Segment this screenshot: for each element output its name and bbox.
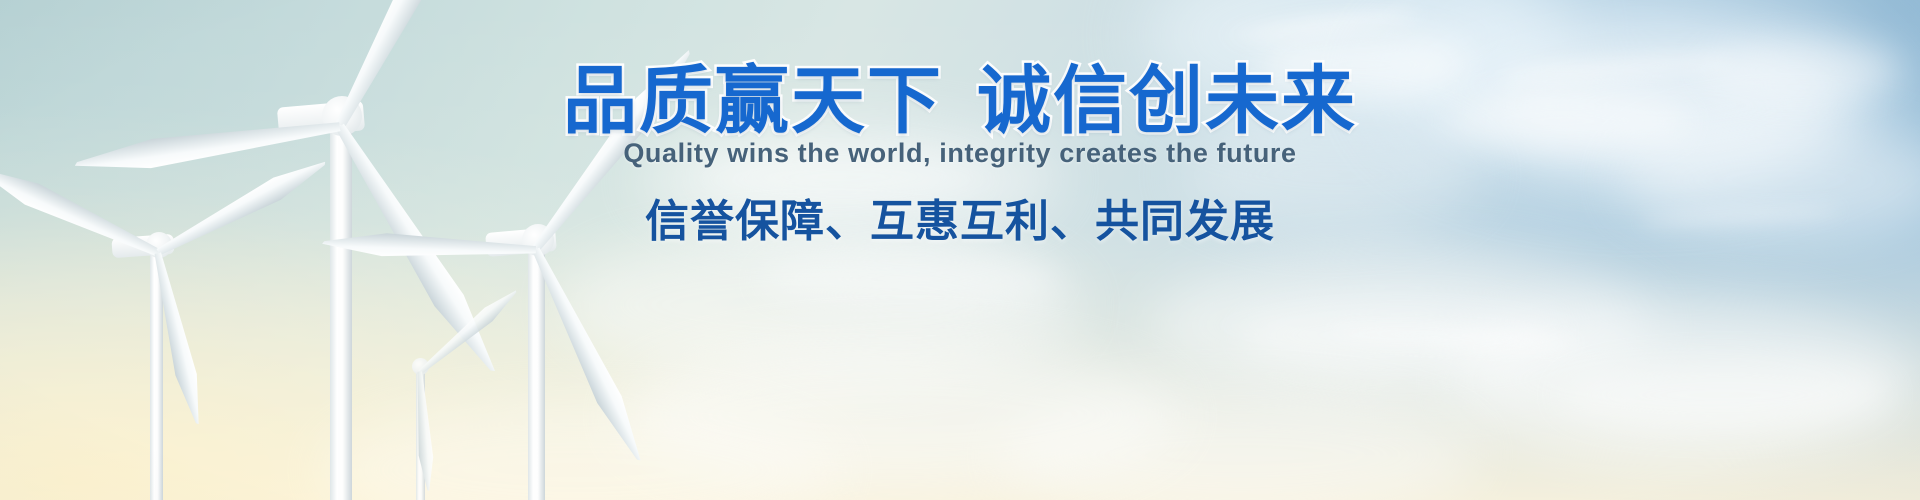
headline-part-1: 品质赢天下 [563,59,943,142]
hero-banner: 品质赢天下诚信创未来 Quality wins the world, integ… [0,0,1920,500]
headline-part-2: 诚信创未来 [977,59,1357,142]
banner-tagline: 信誉保障、互惠互利、共同发展 [0,200,1920,244]
banner-subline-english: Quality wins the world, integrity create… [0,140,1920,167]
banner-headline: 品质赢天下诚信创未来 [0,64,1920,138]
wind-turbine-far [330,300,590,500]
